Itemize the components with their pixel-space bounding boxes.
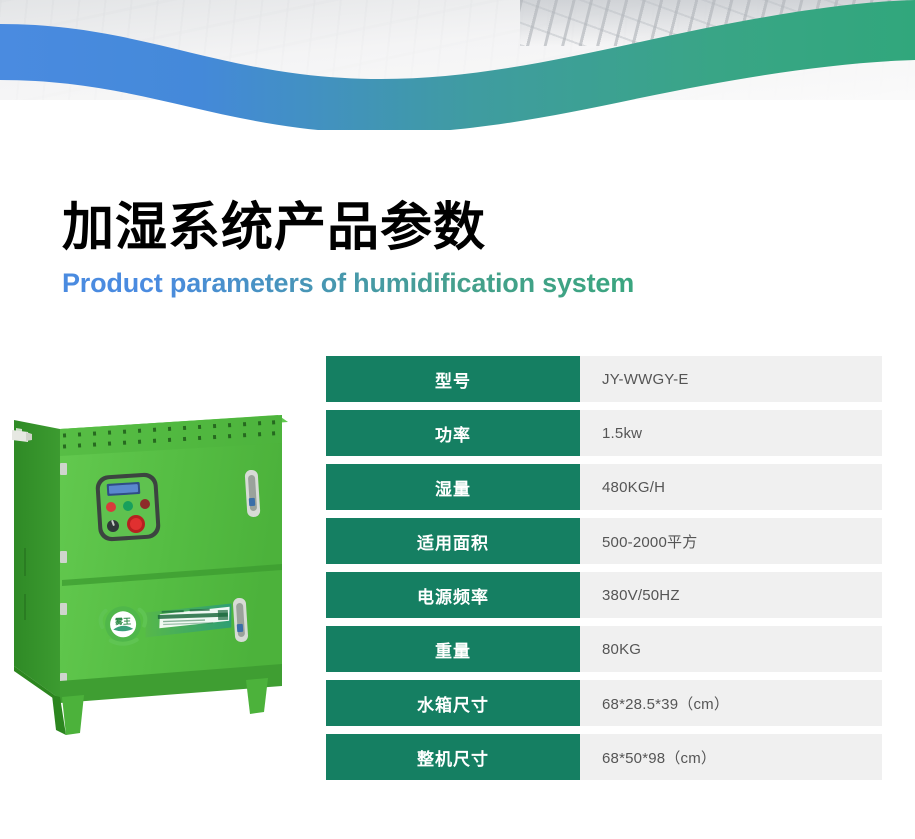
dark-red-button-icon[interactable] <box>140 499 150 509</box>
spec-label: 整机尺寸 <box>326 734 580 780</box>
spec-label: 湿量 <box>326 464 580 510</box>
top-banner <box>0 0 915 130</box>
page-subtitle: Product parameters of humidification sys… <box>62 269 634 299</box>
red-button-icon[interactable] <box>106 502 116 512</box>
spec-label: 型号 <box>326 356 580 402</box>
product-image-humidifier: 雾王 <box>0 398 310 760</box>
banner-wave-graphic <box>0 0 915 130</box>
spec-value: 80KG <box>580 626 882 672</box>
control-panel[interactable] <box>95 472 161 542</box>
spec-value: 68*50*98（cm） <box>580 734 882 780</box>
brand-logo-text: 雾王 <box>114 616 131 627</box>
table-row: 湿量 480KG/H <box>326 464 882 510</box>
table-row: 型号 JY-WWGY-E <box>326 356 882 402</box>
green-button-icon[interactable] <box>123 501 133 511</box>
cabinet-side-panel <box>14 420 60 699</box>
spec-label: 电源频率 <box>326 572 580 618</box>
spec-value: 1.5kw <box>580 410 882 456</box>
spec-label: 水箱尺寸 <box>326 680 580 726</box>
lower-door-handle[interactable] <box>233 598 249 643</box>
spec-label: 功率 <box>326 410 580 456</box>
table-row: 电源频率 380V/50HZ <box>326 572 882 618</box>
product-spec-table: 型号 JY-WWGY-E 功率 1.5kw 湿量 480KG/H 适用面积 50… <box>326 356 882 788</box>
qr-code-icon <box>218 610 228 620</box>
spec-value: 380V/50HZ <box>580 572 882 618</box>
table-row: 适用面积 500-2000平方 <box>326 518 882 564</box>
table-row: 重量 80KG <box>326 626 882 672</box>
page-title: 加湿系统产品参数 <box>62 198 634 259</box>
cabinet-front-panel <box>60 415 282 699</box>
spec-value: 480KG/H <box>580 464 882 510</box>
spec-value: 68*28.5*39（cm） <box>580 680 882 726</box>
table-row: 功率 1.5kw <box>326 410 882 456</box>
spec-value: JY-WWGY-E <box>580 356 882 402</box>
spec-label: 重量 <box>326 626 580 672</box>
page-heading: 加湿系统产品参数 Product parameters of humidific… <box>62 198 634 299</box>
table-row: 水箱尺寸 68*28.5*39（cm） <box>326 680 882 726</box>
spec-value: 500-2000平方 <box>580 518 882 564</box>
table-row: 整机尺寸 68*50*98（cm） <box>326 734 882 780</box>
spec-label: 适用面积 <box>326 518 580 564</box>
